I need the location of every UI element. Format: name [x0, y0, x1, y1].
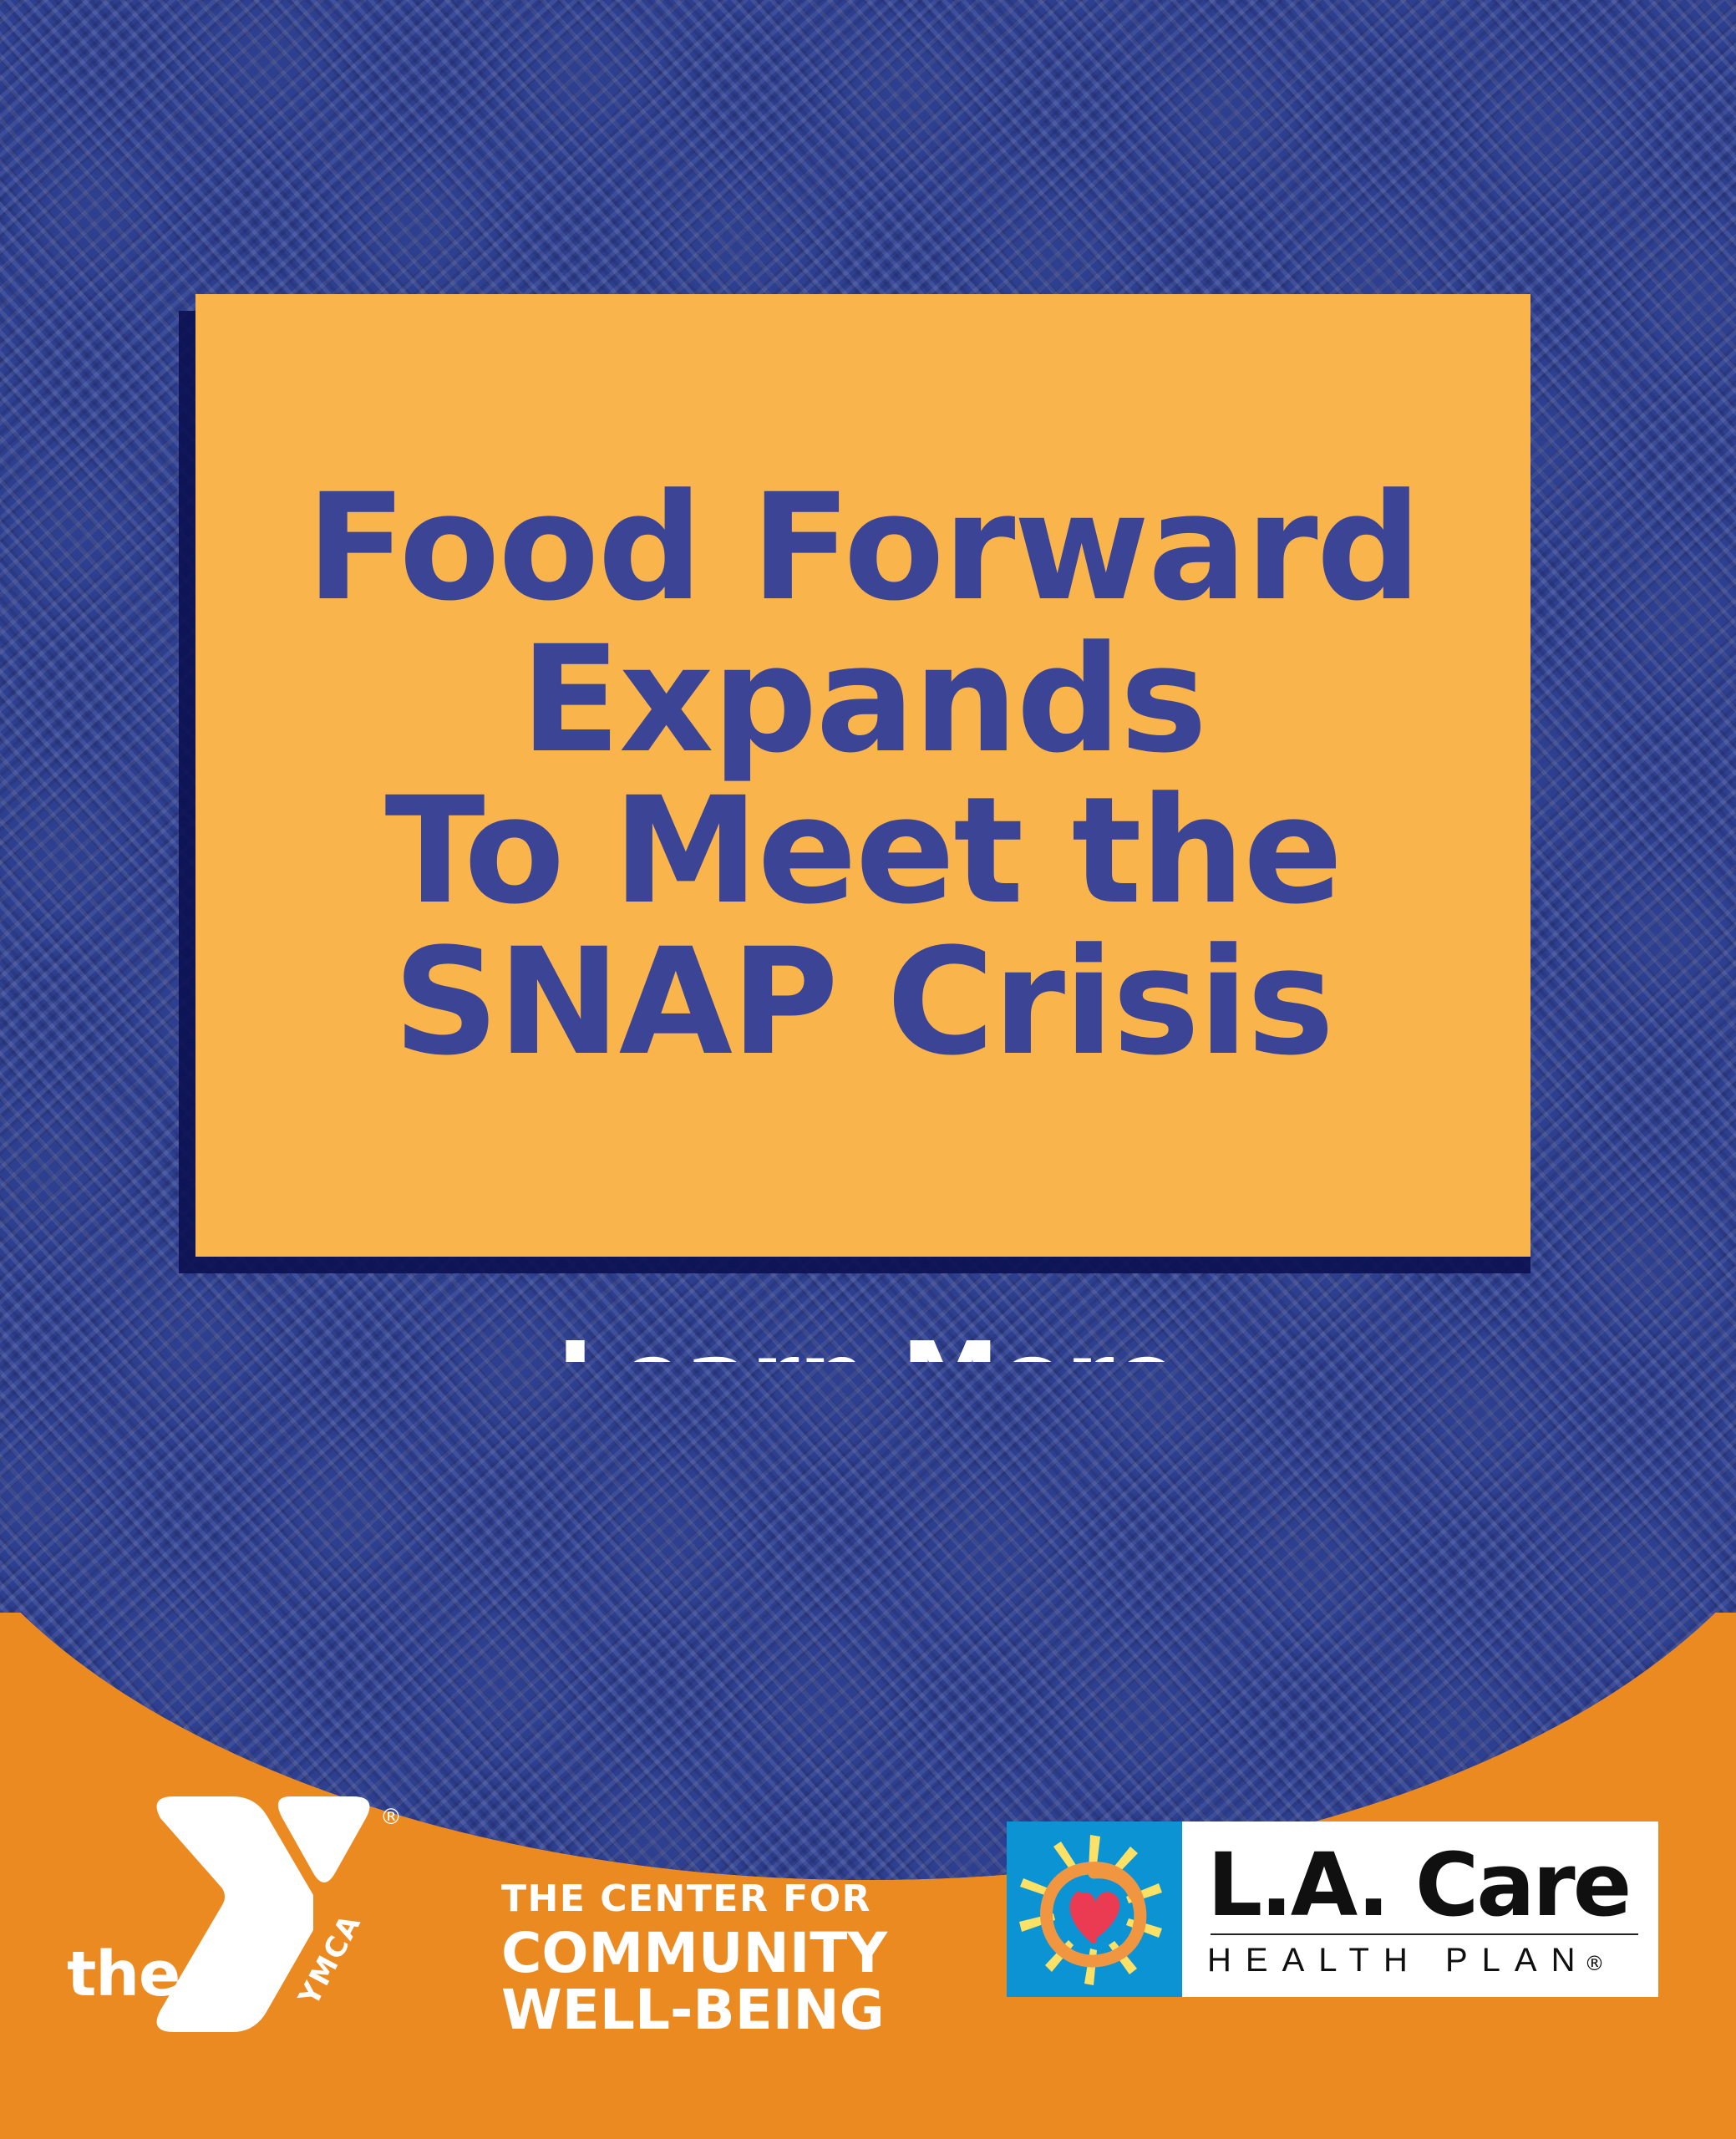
- promo-poster: Food Forward Expands To Meet the SNAP Cr…: [0, 0, 1736, 2139]
- sun-heart-icon: [1007, 1821, 1182, 1997]
- la-care-mark: [1007, 1821, 1182, 1997]
- la-care-logo[interactable]: L.A. Care HEALTH PLAN ®: [1007, 1821, 1658, 1997]
- la-care-subtitle: HEALTH PLAN: [1207, 1943, 1589, 1977]
- ccwb-line-1: THE CENTER FOR: [501, 1880, 887, 1918]
- la-care-registered-mark: ®: [1584, 1952, 1604, 1975]
- headline-line-2: Expands: [229, 624, 1497, 775]
- la-care-name: L.A. Care: [1207, 1842, 1643, 1928]
- headline-line-1: Food Forward: [229, 472, 1497, 623]
- page-title: Food Forward Expands To Meet the SNAP Cr…: [195, 472, 1530, 1078]
- ymca-logo[interactable]: the ® YMCA: [50, 1788, 401, 2089]
- headline-line-3: To Meet the: [229, 775, 1497, 927]
- la-care-wordmark-block: L.A. Care HEALTH PLAN ®: [1182, 1821, 1658, 1997]
- la-care-divider-rule: [1211, 1933, 1638, 1935]
- headline-line-4: SNAP Crisis: [229, 927, 1497, 1078]
- center-for-community-wellbeing-logo[interactable]: THE CENTER FOR COMMUNITY WELL-BEING: [501, 1880, 887, 2040]
- partner-logo-row: the ® YMCA THE CENTER FOR COMMUNITY WELL…: [0, 1763, 1736, 2097]
- ccwb-line-2: COMMUNITY: [501, 1925, 887, 1983]
- la-care-subtitle-row: HEALTH PLAN ®: [1207, 1943, 1643, 1977]
- ccwb-line-3: WELL-BEING: [501, 1982, 887, 2040]
- headline-card: Food Forward Expands To Meet the SNAP Cr…: [195, 294, 1530, 1257]
- ymca-registered-mark: ®: [380, 1805, 402, 1830]
